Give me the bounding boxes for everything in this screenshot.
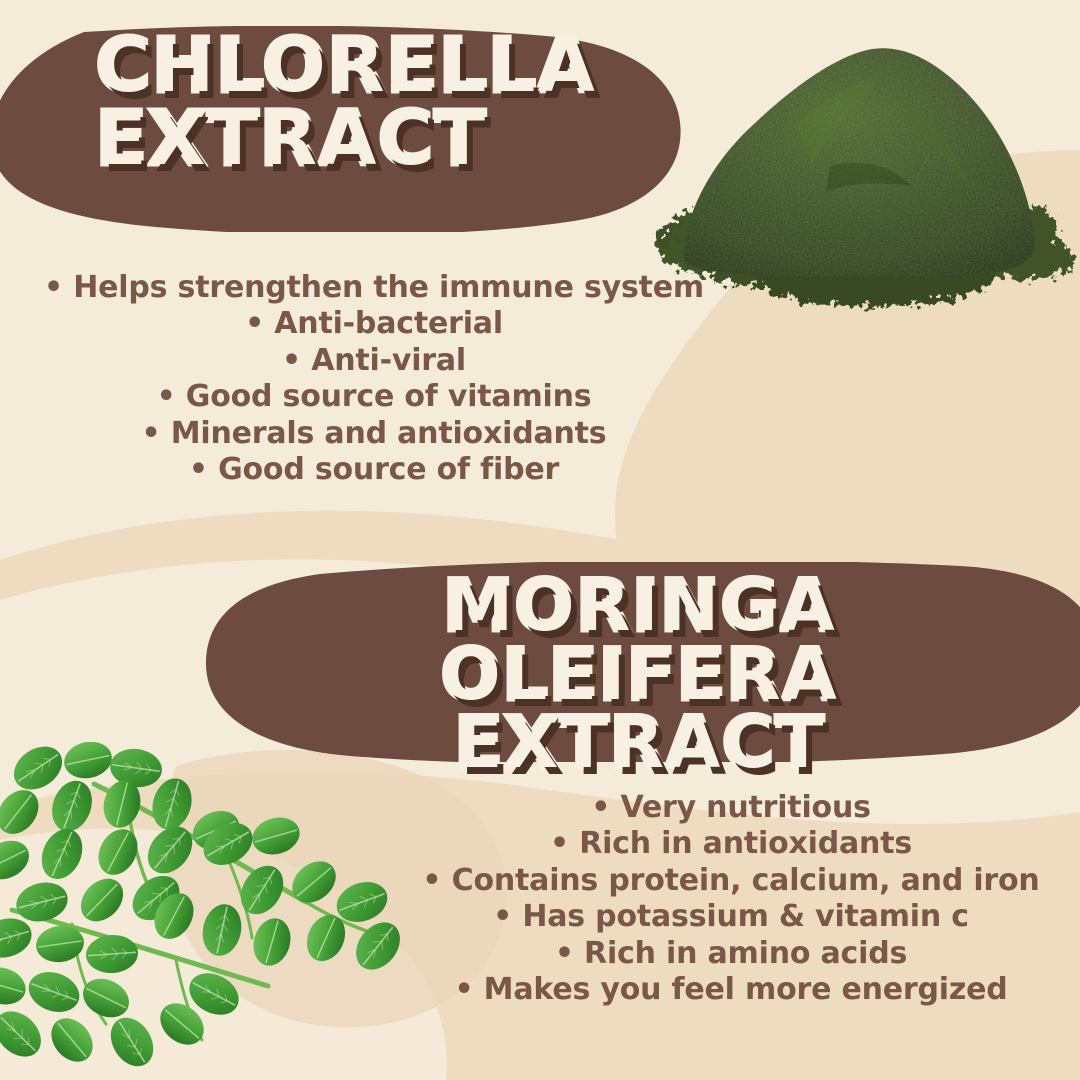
moringa-title: MORINGA OLEIFERA EXTRACT (250, 572, 1030, 778)
moringa-benefits-list: • Very nutritious • Rich in antioxidants… (382, 790, 1080, 1009)
list-item: • Good source of vitamins (24, 379, 724, 415)
powder-texture (684, 48, 1035, 277)
chlorella-title: CHLORELLA EXTRACT (96, 30, 597, 175)
list-item: • Contains protein, calcium, and iron (382, 863, 1080, 899)
list-item: • Rich in antioxidants (382, 826, 1080, 862)
list-item: • Very nutritious (382, 790, 1080, 826)
chlorella-benefits-list: • Helps strengthen the immune system • A… (24, 270, 724, 489)
list-item: • Rich in amino acids (382, 936, 1080, 972)
list-item: • Good source of fiber (24, 452, 724, 488)
list-item: • Makes you feel more energized (382, 972, 1080, 1008)
list-item: • Minerals and antioxidants (24, 416, 724, 452)
list-item: • Has potassium & vitamin c (382, 899, 1080, 935)
infographic-poster: CHLORELLA EXTRACT MORINGA OLEIFERA EXTRA… (0, 0, 1080, 1080)
list-item: • Helps strengthen the immune system (24, 270, 724, 306)
list-item: • Anti-bacterial (24, 306, 724, 342)
list-item: • Anti-viral (24, 343, 724, 379)
moringa-leaf-cluster-upper (0, 742, 245, 930)
moringa-leaves-image (0, 742, 436, 1080)
